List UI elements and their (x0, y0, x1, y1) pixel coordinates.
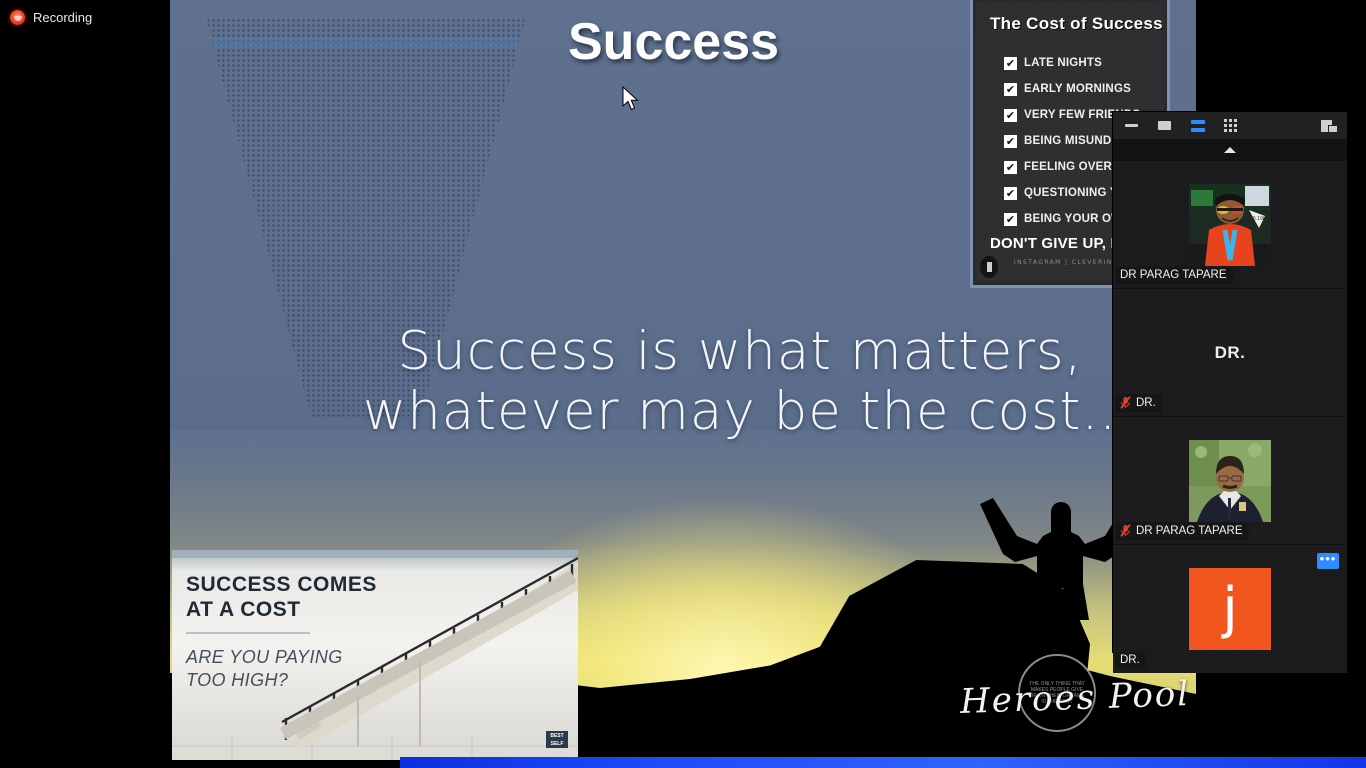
cost-image-divider (186, 632, 310, 634)
zoom-participants-panel: 5.19K DR PARAG TAPARE DR. DR. (1113, 112, 1347, 652)
list-item: ✔ EARLY MORNINGS (1004, 76, 1170, 102)
cost-image-headline-line2: AT A COST (186, 597, 377, 622)
cost-of-success-title: The Cost of Success (990, 14, 1163, 34)
participant-name-badge: DR. (1115, 394, 1162, 412)
cost-image-headline: SUCCESS COMES AT A COST (186, 572, 377, 622)
recording-label: Recording (33, 10, 92, 25)
microphone-muted-icon (1120, 396, 1131, 409)
participant-name-badge: DR PARAG TAPARE (1115, 267, 1233, 284)
cost-image-subhead: ARE YOU PAYING TOO HIGH? (186, 646, 343, 692)
check-icon: ✔ (1004, 109, 1017, 122)
participant-name: DR PARAG TAPARE (1136, 525, 1243, 537)
microphone-muted-icon (1120, 524, 1131, 537)
avatar: j (1189, 568, 1271, 650)
participant-tile[interactable]: ••• j DR. (1113, 545, 1347, 673)
picture-in-picture-icon[interactable] (1320, 117, 1337, 134)
check-icon: ✔ (1004, 213, 1017, 226)
heroes-pool-watermark: Heroes Pool (959, 674, 1190, 722)
check-icon: ✔ (1004, 83, 1017, 96)
participant-initials: DR. (1215, 343, 1246, 363)
participant-name-badge: DR. (1115, 652, 1146, 669)
participant-name-badge: DR PARAG TAPARE (1115, 522, 1249, 540)
check-icon: ✔ (1004, 161, 1017, 174)
minimize-icon[interactable] (1123, 117, 1140, 134)
slide-quote-line2: whatever may be the cost.. (270, 382, 1196, 442)
bottom-blue-strip (400, 757, 1366, 768)
best-self-logo: BEST SELF (546, 731, 568, 748)
participant-name: DR. (1136, 397, 1156, 409)
participant-video: 5.19K (1189, 184, 1271, 266)
zoom-view-toolbar (1113, 112, 1347, 139)
participant-video (1189, 440, 1271, 522)
svg-text:5.19K: 5.19K (1253, 216, 1267, 222)
success-comes-at-a-cost-image: SUCCESS COMES AT A COST ARE YOU PAYING T… (172, 550, 578, 760)
cost-image-subhead-line1: ARE YOU PAYING (186, 646, 343, 669)
person-badge-icon (980, 256, 998, 278)
collapse-chevron-up-icon[interactable] (1113, 139, 1347, 161)
desktop-root: Recording THE ONLY THING THAT MAKES PEOP… (0, 0, 1366, 768)
gallery-view-icon[interactable] (1222, 117, 1239, 134)
cost-image-headline-line1: SUCCESS COMES (186, 572, 377, 597)
more-options-button[interactable]: ••• (1317, 553, 1339, 569)
participant-tile[interactable]: DR. DR. (1113, 289, 1347, 417)
participant-name: DR PARAG TAPARE (1120, 269, 1227, 281)
mouse-cursor (622, 86, 640, 112)
list-item: ✔ LATE NIGHTS (1004, 50, 1170, 76)
recording-indicator: Recording (10, 10, 92, 25)
list-item-label: LATE NIGHTS (1024, 57, 1102, 69)
check-icon: ✔ (1004, 135, 1017, 148)
record-dot-icon (10, 10, 25, 25)
participant-tile[interactable]: 5.19K DR PARAG TAPARE (1113, 161, 1347, 289)
slide-title: Success (568, 12, 779, 72)
participant-tile[interactable]: DR PARAG TAPARE (1113, 417, 1347, 545)
list-item-label: EARLY MORNINGS (1024, 83, 1131, 95)
maximize-icon[interactable] (1156, 117, 1173, 134)
slide-quote-line1: Success is what matters, (270, 322, 1196, 382)
check-icon: ✔ (1004, 57, 1017, 70)
check-icon: ✔ (1004, 187, 1017, 200)
speaker-strip-view-icon[interactable] (1189, 117, 1206, 134)
participant-tiles: 5.19K DR PARAG TAPARE DR. DR. (1113, 161, 1347, 673)
participant-name: DR. (1120, 654, 1140, 666)
slide-quote: Success is what matters, whatever may be… (270, 322, 1196, 442)
cost-image-subhead-line2: TOO HIGH? (186, 669, 343, 692)
